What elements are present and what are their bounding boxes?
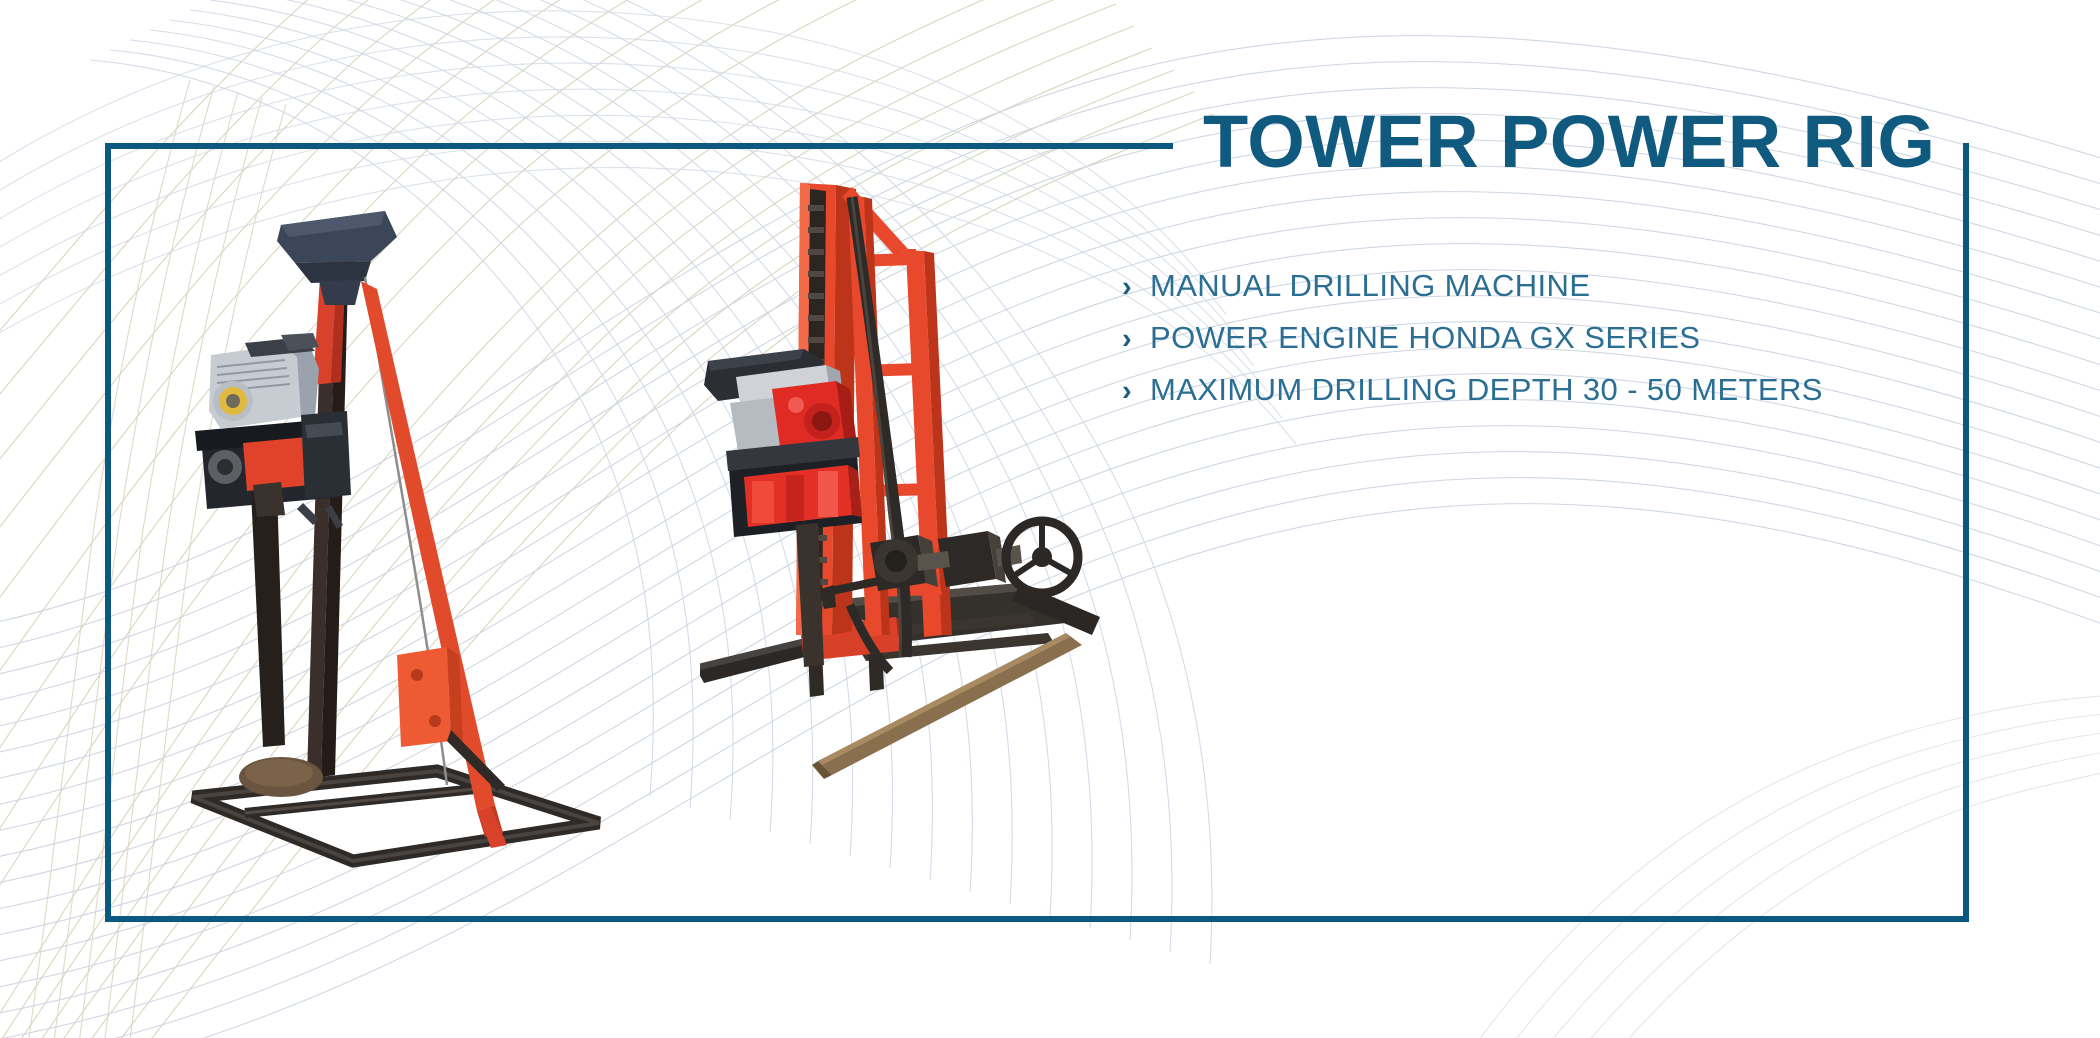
chevron-right-icon: › [1122, 377, 1146, 406]
list-item: › MAXIMUM DRILLING DEPTH 30 - 50 METERS [1122, 372, 1823, 408]
feature-list: › MANUAL DRILLING MACHINE › POWER ENGINE… [1122, 268, 1823, 424]
feature-label: MAXIMUM DRILLING DEPTH 30 - 50 METERS [1150, 372, 1823, 408]
drilling-rig-photo-right [700, 165, 1130, 905]
drilling-rig-photo-left [185, 185, 605, 885]
list-item: › MANUAL DRILLING MACHINE [1122, 268, 1823, 304]
frame-left-border [105, 143, 111, 922]
chevron-right-icon: › [1122, 325, 1146, 354]
frame-bottom-border [105, 916, 1969, 922]
slide-canvas: TOWER POWER RIG › MANUAL DRILLING MACHIN… [0, 0, 2100, 1038]
chevron-right-icon: › [1122, 273, 1146, 302]
feature-label: MANUAL DRILLING MACHINE [1150, 268, 1590, 304]
page-title: TOWER POWER RIG [1203, 105, 1935, 179]
frame-top-border [105, 143, 1173, 149]
frame-right-border [1963, 143, 1969, 922]
feature-label: POWER ENGINE HONDA GX SERIES [1150, 320, 1700, 356]
list-item: › POWER ENGINE HONDA GX SERIES [1122, 320, 1823, 356]
